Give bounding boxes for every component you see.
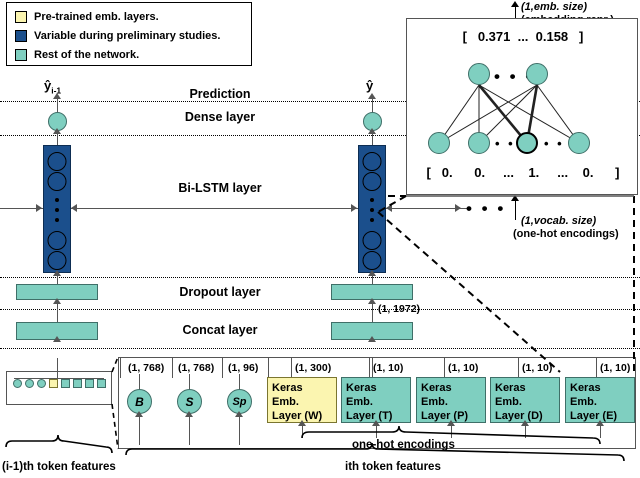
- legend-label-rest: Rest of the network.: [34, 49, 139, 61]
- bilstm-cell: [363, 172, 382, 191]
- edge-spacy-up: [239, 374, 240, 390]
- bilstm-vdot: [55, 218, 59, 222]
- feature-circle-bert-label: B: [135, 395, 144, 409]
- keras-output-node: [526, 63, 548, 85]
- feature-circle-spacy-label: Sp: [232, 396, 246, 408]
- legend-box: Pre-trained emb. layers. Variable during…: [6, 2, 252, 66]
- feature-shape-circle: [37, 379, 46, 388]
- arrowhead-keras-output: [511, 1, 519, 7]
- recurrent-edge-right-in: [113, 208, 358, 209]
- shape-label-tag: (1, 10): [373, 362, 403, 374]
- edge-sent-up: [189, 374, 190, 390]
- brace-label-prev-token: (i-1)th token features: [2, 461, 116, 473]
- bilstm-block-right: [358, 145, 386, 273]
- edge-keras-input: [515, 198, 516, 220]
- arrowhead-keras-input: [511, 195, 519, 201]
- shape-label-concat-right: (1, 1972): [378, 303, 420, 315]
- shape-label-pos: (1, 10): [448, 362, 478, 374]
- keras-input-shape: (1,vocab. size): [521, 216, 596, 228]
- bilstm-vdot: [370, 218, 374, 222]
- prev-token-features-box: [6, 371, 112, 405]
- arrowhead-recurrent-right-out: [386, 204, 392, 212]
- feature-shape-circle: [25, 379, 34, 388]
- legend-item-pretrained: Pre-trained emb. layers.: [15, 8, 159, 26]
- keras-output-shape: (1,emb. size): [521, 2, 587, 14]
- edge-ent-shape: [596, 358, 597, 378]
- emb-layer-box-tag: Keras Emb. Layer (T): [341, 377, 411, 423]
- bilstm-block-left: [43, 145, 71, 273]
- keras-onehot-vector: [ 0. 0. ... 1. ... 0. ]: [407, 165, 639, 180]
- arrowhead-word-onehot: [298, 420, 306, 426]
- recurrent-edge-left-out: [71, 208, 113, 209]
- feature-shape-square: [73, 379, 82, 388]
- arrowhead-bert: [135, 411, 143, 417]
- arrowhead-recurrent-left-out: [71, 204, 77, 212]
- output-label-right: ŷ: [366, 79, 373, 93]
- legend-swatch-rest: [15, 49, 27, 61]
- emb-layer-box-word: Keras Emb. Layer (W): [267, 377, 337, 423]
- arrowhead-sent: [185, 411, 193, 417]
- group-sep-1: [172, 358, 173, 378]
- emb-pos-line1: Keras: [421, 381, 485, 395]
- bilstm-vdot: [55, 208, 59, 212]
- arrowhead-tag-onehot: [372, 420, 380, 426]
- arrowhead-prediction-left: [53, 93, 61, 99]
- feature-shape-square: [61, 379, 70, 388]
- keras-emb-layer-panel: [ 0.371 ... 0.158 ] • • • • • • • •: [406, 18, 638, 195]
- bilstm-cell: [48, 152, 67, 171]
- legend-label-pretrained: Pre-trained emb. layers.: [34, 11, 159, 23]
- arrowhead-recurrent-right-in: [351, 204, 357, 212]
- group-sep-0: [120, 358, 121, 378]
- bilstm-cell: [48, 231, 67, 250]
- shape-label-bert: (1, 768): [128, 362, 164, 374]
- row-label-concat: Concat layer: [130, 324, 310, 337]
- emb-layer-box-dep: Keras Emb. Layer (D): [490, 377, 560, 423]
- group-sep-3: [268, 358, 269, 378]
- bilstm-cell: [48, 251, 67, 270]
- legend-item-variable: Variable during preliminary studies.: [15, 27, 220, 45]
- keras-input-node: [568, 132, 590, 154]
- band-divider-concat: [0, 348, 640, 349]
- emb-tag-line1: Keras: [346, 381, 410, 395]
- emb-dep-line1: Keras: [495, 381, 559, 395]
- feature-circle-sent-label: S: [185, 395, 193, 409]
- arrowhead-concat-left: [53, 336, 61, 342]
- arrowhead-spacy: [235, 411, 243, 417]
- arrowhead-recurrent-left-in: [36, 204, 42, 212]
- arrowhead-dense-left: [53, 128, 61, 134]
- brace-label-ith-token: ith token features: [345, 461, 441, 473]
- bilstm-cell: [48, 172, 67, 191]
- brace-prev-token: [6, 435, 112, 453]
- arrowhead-bilstm-right: [368, 270, 376, 276]
- row-label-dropout: Dropout layer: [130, 286, 310, 299]
- arrowhead-pos-onehot: [447, 420, 455, 426]
- group-sep-2: [222, 358, 223, 378]
- band-divider-dropout: [0, 309, 640, 310]
- band-divider-bilstm: [0, 277, 640, 278]
- legend-swatch-variable: [15, 30, 27, 42]
- legend-label-variable: Variable during preliminary studies.: [34, 30, 220, 42]
- arrowhead-concat-right: [368, 336, 376, 342]
- emb-word-line1: Keras: [272, 381, 336, 395]
- feature-shape-circle: [13, 379, 22, 388]
- emb-layer-box-ent: Keras Emb. Layer (E): [565, 377, 635, 423]
- shape-label-dep: (1, 10): [522, 362, 552, 374]
- diagram-canvas: Pre-trained emb. layers. Variable during…: [0, 0, 640, 478]
- arrowhead-recurrent-far-right: [455, 204, 461, 212]
- keras-output-node: [468, 63, 490, 85]
- emb-ent-line2: Emb.: [570, 395, 634, 409]
- row-label-dense: Dense layer: [130, 111, 310, 124]
- keras-input-node: [468, 132, 490, 154]
- emb-ent-line1: Keras: [570, 381, 634, 395]
- emb-tag-line2: Emb.: [346, 395, 410, 409]
- edge-dep-shape: [518, 358, 519, 378]
- arrowhead-dep-onehot: [521, 420, 529, 426]
- edge-bert-up: [139, 374, 140, 390]
- legend-swatch-pretrained: [15, 11, 27, 23]
- bilstm-cell: [363, 152, 382, 171]
- feature-shape-square: [97, 379, 106, 388]
- bilstm-vdot: [370, 208, 374, 212]
- edge-spacy-src: [239, 414, 240, 445]
- bilstm-vdot: [370, 198, 374, 202]
- edge-word-shape: [291, 358, 292, 378]
- bilstm-vdot: [55, 198, 59, 202]
- feature-shape-square: [85, 379, 94, 388]
- row-label-bilstm: Bi-LSTM layer: [130, 182, 310, 195]
- keras-input-note: (one-hot encodings): [513, 229, 619, 241]
- arrowhead-dropout-left: [53, 298, 61, 304]
- arrowhead-prediction-right: [368, 93, 376, 99]
- row-label-prediction: Prediction: [130, 88, 310, 101]
- shape-label-sent: (1, 768): [178, 362, 214, 374]
- shape-label-spacy: (1, 96): [228, 362, 258, 374]
- feature-shape-word-square: [49, 379, 58, 388]
- brace-label-one-hot: one-hot encodings: [352, 439, 455, 451]
- keras-input-node: [428, 132, 450, 154]
- shape-label-word: (1, 300): [295, 362, 331, 374]
- edge-pos-shape: [444, 358, 445, 378]
- arrowhead-dropout-right: [368, 298, 376, 304]
- legend-item-rest: Rest of the network.: [15, 46, 139, 64]
- arrowhead-dense-right: [368, 128, 376, 134]
- edge-bert-src: [139, 414, 140, 445]
- arrowhead-bilstm-left: [53, 270, 61, 276]
- bilstm-cell: [363, 231, 382, 250]
- emb-word-line2: Emb.: [272, 395, 336, 409]
- emb-layer-box-pos: Keras Emb. Layer (P): [416, 377, 486, 423]
- edge-tag-shape: [369, 358, 370, 378]
- emb-dep-line2: Emb.: [495, 395, 559, 409]
- keras-input-node-active: [516, 132, 538, 154]
- emb-pos-line2: Emb.: [421, 395, 485, 409]
- shape-label-ent: (1, 10): [600, 362, 630, 374]
- bilstm-cell: [363, 251, 382, 270]
- sequence-ellipsis-right: • • •: [466, 200, 506, 217]
- arrowhead-ent-onehot: [596, 420, 604, 426]
- edge-sent-src: [189, 414, 190, 445]
